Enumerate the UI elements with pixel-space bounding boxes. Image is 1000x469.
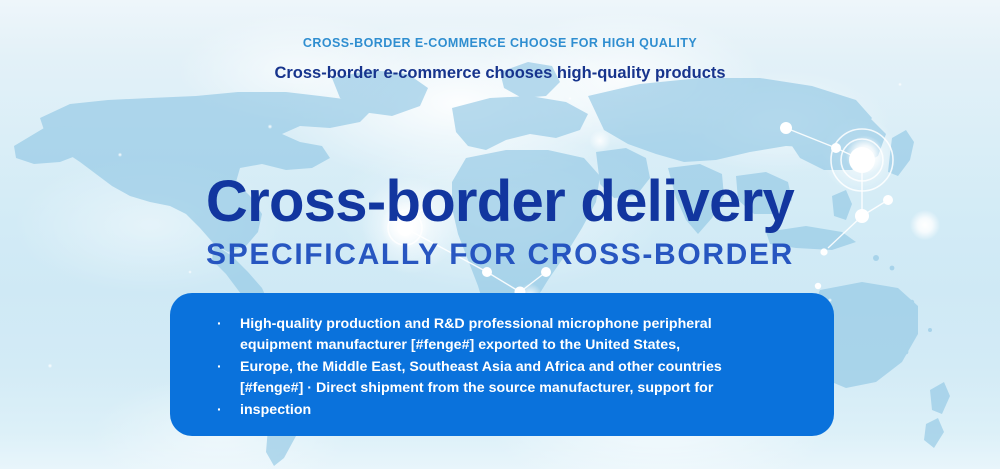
bullet-icon: ·: [217, 314, 222, 335]
description-line-text: equipment manufacturer [#fenge#] exporte…: [240, 337, 680, 353]
description-line: ·Europe, the Middle East, Southeast Asia…: [240, 357, 804, 378]
background-slogan-clip: SPECIFICALLY FOR CROSS-BORDER: [0, 240, 1000, 293]
description-panel-body: ·High-quality production and R&D profess…: [240, 314, 804, 421]
page-title: Cross-border delivery: [0, 172, 1000, 233]
background-slogan: SPECIFICALLY FOR CROSS-BORDER: [0, 240, 1000, 270]
description-line: ·High-quality production and R&D profess…: [240, 314, 804, 335]
bullet-icon: ·: [217, 400, 222, 421]
bullet-icon: ·: [217, 357, 222, 378]
description-line-text: High-quality production and R&D professi…: [240, 316, 712, 332]
description-line: [#fenge#] · Direct shipment from the sou…: [240, 378, 804, 399]
eyebrow-text: CROSS-BORDER E-COMMERCE CHOOSE FOR HIGH …: [0, 36, 1000, 50]
description-line: equipment manufacturer [#fenge#] exporte…: [240, 335, 804, 356]
cross-border-delivery-banner: CROSS-BORDER E-COMMERCE CHOOSE FOR HIGH …: [0, 0, 1000, 469]
description-line-text: inspection: [240, 402, 311, 418]
description-panel: ·High-quality production and R&D profess…: [170, 293, 834, 436]
description-line-text: [#fenge#] · Direct shipment from the sou…: [240, 380, 713, 396]
description-line: ·inspection: [240, 400, 804, 421]
description-line-text: Europe, the Middle East, Southeast Asia …: [240, 359, 722, 375]
subheading-text: Cross-border e-commerce chooses high-qua…: [0, 64, 1000, 83]
